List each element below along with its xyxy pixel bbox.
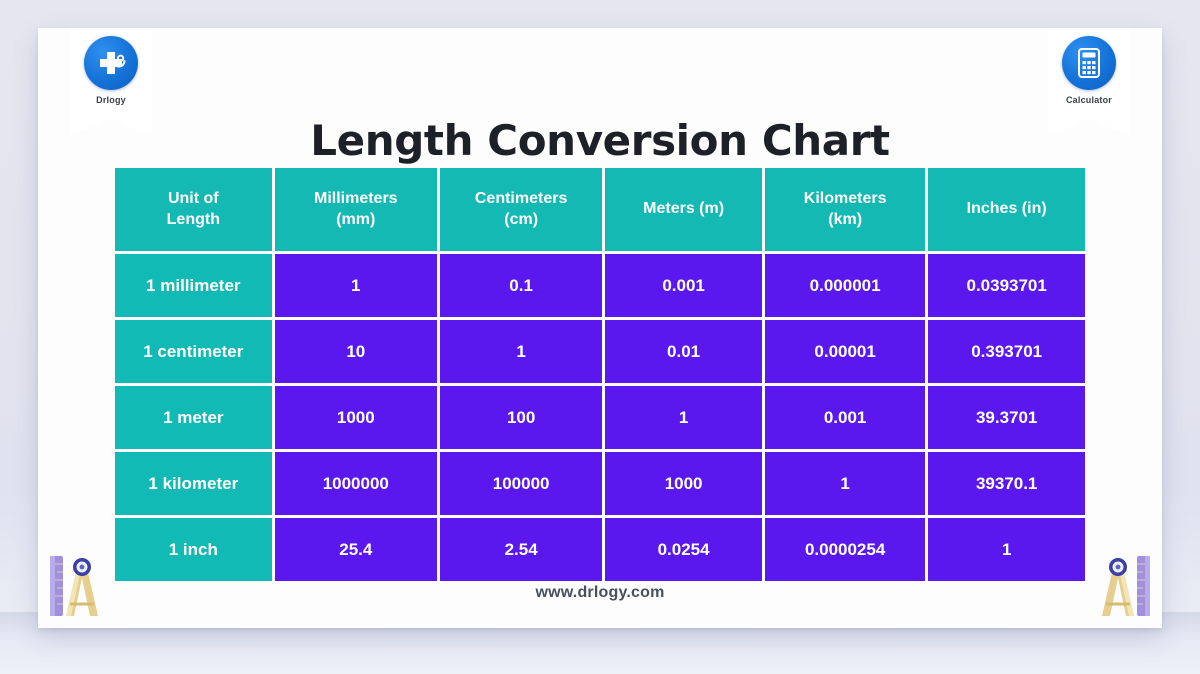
table-row: 1 millimeter 1 0.1 0.001 0.000001 0.0393… [115,254,1085,317]
table-body: 1 millimeter 1 0.1 0.001 0.000001 0.0393… [115,254,1085,581]
cell-km-mm: 1000000 [275,452,437,515]
cell-mm-m: 0.001 [605,254,762,317]
drlogy-logo-caption: Drlogy [96,96,126,105]
column-header-inches: Inches (in) [928,168,1085,251]
cell-km-m: 1000 [605,452,762,515]
row-header-centimeter: 1 centimeter [115,320,272,383]
calculator-icon [1073,45,1105,81]
length-conversion-table: Unit of Length Millimeters (mm) Centimet… [112,165,1088,584]
cell-mm-mm: 1 [275,254,437,317]
table-row: 1 kilometer 1000000 100000 1000 1 39370.… [115,452,1085,515]
cell-cm-in: 0.393701 [928,320,1085,383]
compass-and-ruler-decoration-left [44,548,118,624]
cell-m-m: 1 [605,386,762,449]
cell-in-km: 0.0000254 [765,518,925,581]
compass-and-ruler-decoration-right [1082,548,1156,624]
column-header-centimeters: Centimeters (cm) [440,168,602,251]
cell-m-km: 0.001 [765,386,925,449]
page-title: Length Conversion Chart [38,116,1162,165]
row-header-kilometer: 1 kilometer [115,452,272,515]
cell-m-mm: 1000 [275,386,437,449]
table-row: 1 meter 1000 100 1 0.001 39.3701 [115,386,1085,449]
cell-mm-cm: 0.1 [440,254,602,317]
table-header: Unit of Length Millimeters (mm) Centimet… [115,168,1085,251]
chart-card: Drlogy Calculator Length Conversion Char… [38,28,1162,628]
footer-website-url: www.drlogy.com [38,584,1162,602]
table-row: 1 centimeter 10 1 0.01 0.00001 0.393701 [115,320,1085,383]
table-header-row: Unit of Length Millimeters (mm) Centimet… [115,168,1085,251]
cell-km-cm: 100000 [440,452,602,515]
cell-cm-m: 0.01 [605,320,762,383]
cell-km-km: 1 [765,452,925,515]
cell-km-in: 39370.1 [928,452,1085,515]
compass-and-ruler-icon [44,548,118,624]
column-header-millimeters: Millimeters (mm) [275,168,437,251]
cell-mm-in: 0.0393701 [928,254,1085,317]
row-header-meter: 1 meter [115,386,272,449]
conversion-table-wrapper: Unit of Length Millimeters (mm) Centimet… [112,165,1088,584]
cell-cm-cm: 1 [440,320,602,383]
column-header-kilometers: Kilometers (km) [765,168,925,251]
column-header-meters: Meters (m) [605,168,762,251]
calculator-logo-caption: Calculator [1066,96,1112,105]
cell-m-in: 39.3701 [928,386,1085,449]
medical-cross-stethoscope-icon [93,45,129,81]
row-header-inch: 1 inch [115,518,272,581]
drlogy-logo-circle [84,36,138,90]
cell-cm-km: 0.00001 [765,320,925,383]
calculator-logo-circle [1062,36,1116,90]
cell-in-mm: 25.4 [275,518,437,581]
cell-cm-mm: 10 [275,320,437,383]
cell-in-cm: 2.54 [440,518,602,581]
compass-and-ruler-icon [1082,548,1156,624]
cell-in-in: 1 [928,518,1085,581]
cell-mm-km: 0.000001 [765,254,925,317]
row-header-millimeter: 1 millimeter [115,254,272,317]
cell-in-m: 0.0254 [605,518,762,581]
table-row: 1 inch 25.4 2.54 0.0254 0.0000254 1 [115,518,1085,581]
cell-m-cm: 100 [440,386,602,449]
column-header-unit: Unit of Length [115,168,272,251]
